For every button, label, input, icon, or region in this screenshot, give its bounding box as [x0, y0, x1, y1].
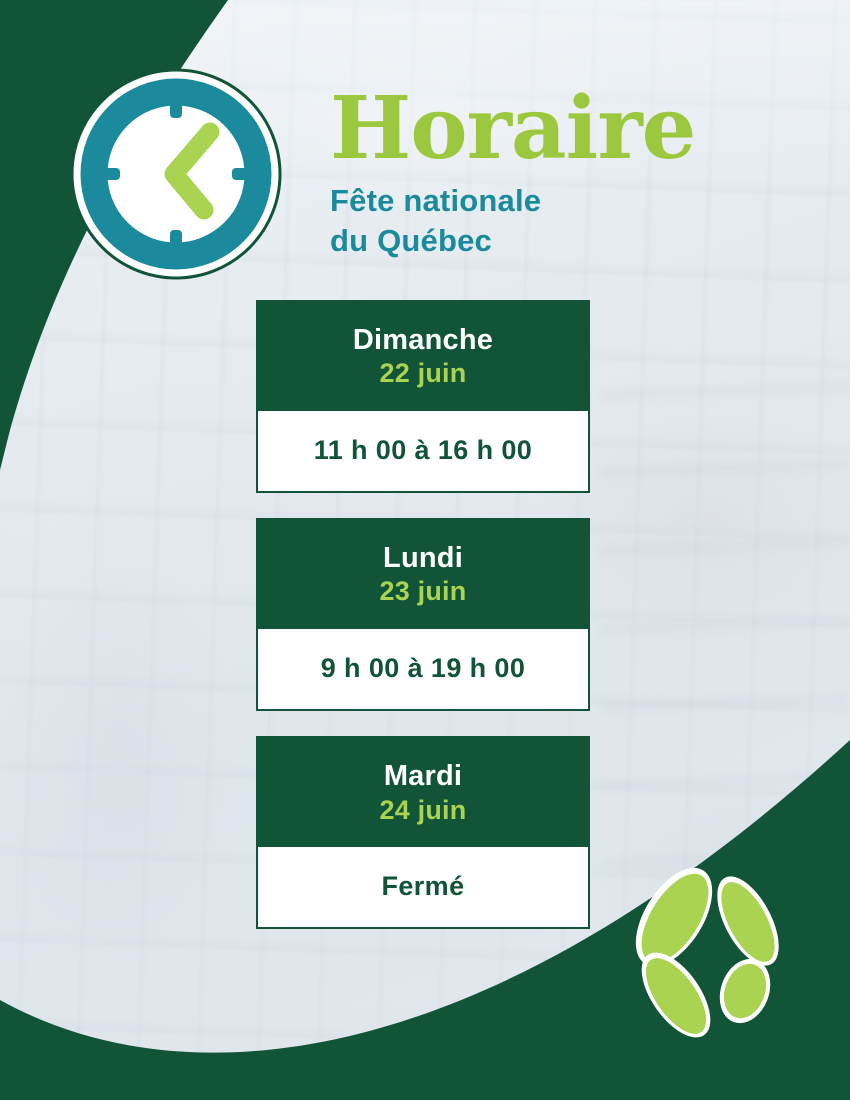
schedule-day: Lundi [268, 542, 578, 575]
schedule-list: Dimanche 22 juin 11 h 00 à 16 h 00 Lundi… [256, 300, 592, 954]
schedule-card-body: Fermé [258, 847, 588, 927]
subtitle-line-1: Fête nationale [330, 181, 810, 221]
schedule-card: Dimanche 22 juin 11 h 00 à 16 h 00 [256, 300, 590, 493]
schedule-date: 24 juin [268, 794, 578, 828]
schedule-card: Lundi 23 juin 9 h 00 à 19 h 00 [256, 518, 590, 711]
schedule-hours: 11 h 00 à 16 h 00 [268, 435, 578, 466]
schedule-poster: Horaire Fête nationale du Québec Dimanch… [0, 0, 850, 1100]
butterfly-logo [614, 855, 814, 1055]
schedule-card: Mardi 24 juin Fermé [256, 736, 590, 929]
schedule-card-header: Mardi 24 juin [258, 738, 588, 847]
schedule-card-body: 9 h 00 à 19 h 00 [258, 629, 588, 709]
poster-header: Horaire Fête nationale du Québec [0, 0, 850, 300]
title-block: Horaire Fête nationale du Québec [330, 88, 810, 261]
schedule-day: Mardi [268, 760, 578, 793]
subtitle-line-2: du Québec [330, 221, 810, 261]
schedule-hours: 9 h 00 à 19 h 00 [268, 653, 578, 684]
schedule-date: 23 juin [268, 575, 578, 609]
page-subtitle: Fête nationale du Québec [330, 181, 810, 262]
schedule-hours: Fermé [268, 871, 578, 902]
clock-icon [70, 68, 282, 280]
schedule-card-body: 11 h 00 à 16 h 00 [258, 411, 588, 491]
page-title: Horaire [330, 88, 810, 171]
schedule-card-header: Dimanche 22 juin [258, 302, 588, 411]
schedule-day: Dimanche [268, 324, 578, 357]
schedule-date: 22 juin [268, 357, 578, 391]
schedule-card-header: Lundi 23 juin [258, 520, 588, 629]
